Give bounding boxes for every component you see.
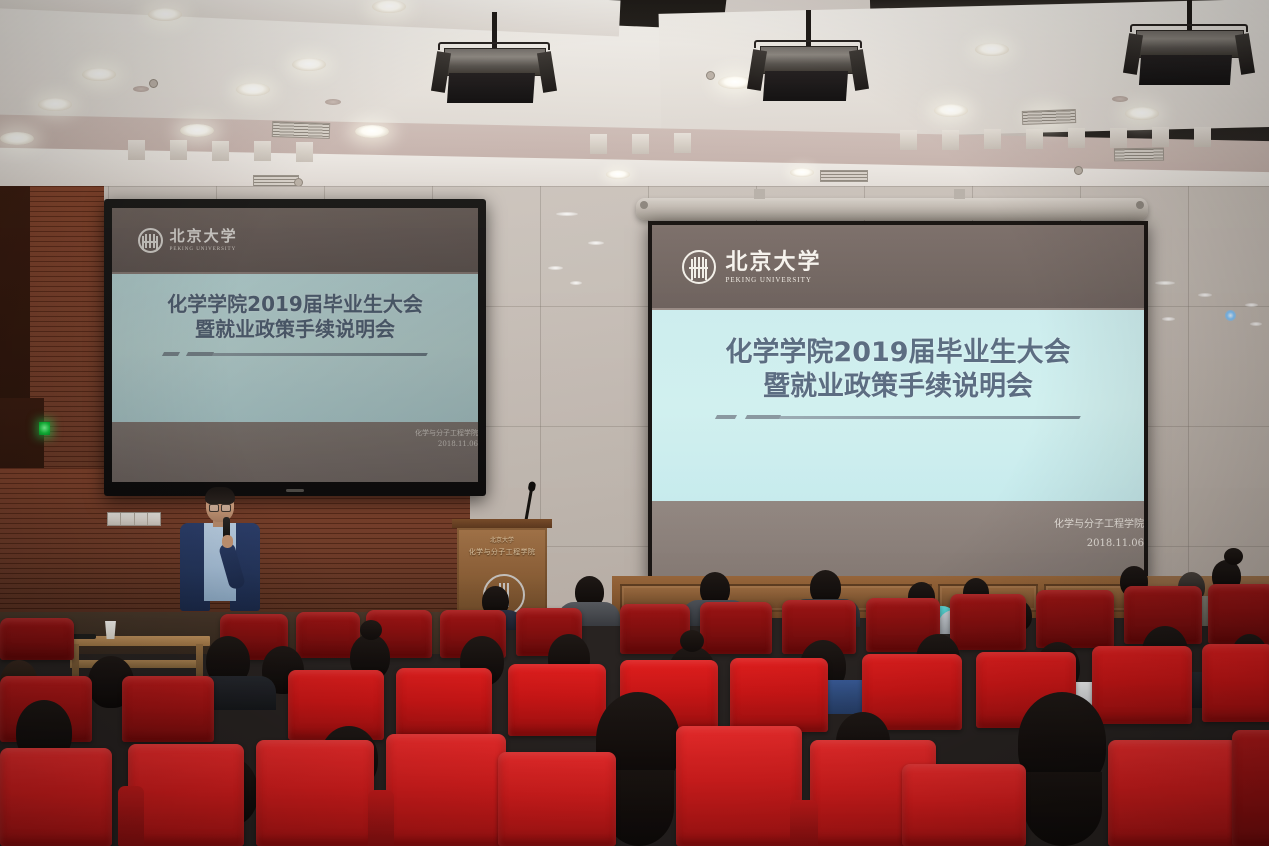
presenter-glasses [209, 502, 231, 511]
audience-hair [1024, 772, 1102, 846]
desk-object [72, 634, 96, 639]
presenter [180, 489, 260, 619]
auditorium-seat[interactable] [730, 658, 828, 732]
hvac-vent [1114, 148, 1164, 162]
side-table-leg [196, 644, 203, 678]
sprinkler-icon [1074, 166, 1083, 175]
auditorium-seat[interactable] [0, 618, 74, 660]
right-projection-screen[interactable]: 北京大学 PEKING UNIVERSITY 化学学院2019届毕业生大会 暨就… [648, 221, 1148, 583]
hvac-vent [1022, 109, 1076, 125]
slide-rule-decoration [716, 408, 1080, 424]
ceiling-downlight [934, 104, 968, 117]
left-slide-footer-date: 2018.11.06 [112, 439, 478, 450]
ceiling-downlight [355, 125, 389, 138]
pku-logo-chinese: 北京大学 [726, 251, 822, 273]
auditorium-seat[interactable] [1092, 646, 1192, 724]
ceiling-downlight [292, 58, 326, 71]
auditorium-seat[interactable] [902, 764, 1026, 846]
smoke-detector-icon [325, 99, 341, 105]
podium-text-college: 化学与分子工程学院 [457, 549, 547, 556]
right-slide: 北京大学 PEKING UNIVERSITY 化学学院2019届毕业生大会 暨就… [652, 225, 1144, 579]
stage-spotlight-right [1136, 24, 1242, 60]
pku-logo-english: PEKING UNIVERSITY [726, 277, 822, 284]
auditorium-seat[interactable] [676, 726, 802, 846]
auditorium-seat[interactable] [508, 664, 606, 736]
auditorium-seat[interactable] [122, 676, 214, 742]
projection-screen-roller-housing [636, 198, 1148, 220]
pku-logo-chinese: 北京大学 [170, 229, 238, 244]
ceiling-downlight [0, 132, 34, 145]
auditorium-seat[interactable] [386, 734, 506, 846]
seat-armrest [118, 786, 144, 846]
left-slide: 北京大学 PEKING UNIVERSITY 化学学院2019届毕业生大会 暨就… [112, 208, 478, 482]
ceiling-downlight [975, 43, 1009, 56]
auditorium-seat[interactable] [1232, 730, 1269, 846]
ceiling-downlight [38, 98, 72, 111]
stage-spotlight-left [444, 42, 544, 78]
left-slide-footer-org: 化学与分子工程学院 [112, 428, 478, 439]
ceiling-downlight [372, 0, 406, 13]
slide-rule-decoration [163, 345, 427, 359]
exit-sign-icon [39, 422, 50, 435]
auditorium-seat[interactable] [1202, 644, 1269, 722]
pku-seal-icon [682, 250, 716, 284]
smoke-detector-icon [133, 86, 149, 92]
display-power-led [286, 489, 304, 492]
ceiling [0, 0, 1269, 190]
right-slide-footer-date: 2018.11.06 [652, 534, 1144, 553]
right-slide-title: 化学学院2019届毕业生大会 暨就业政策手续说明会 [725, 336, 1070, 404]
auditorium-seat[interactable] [700, 602, 772, 654]
seat-armrest [790, 800, 818, 846]
ceiling-downlight [180, 124, 214, 137]
auditorium-seat[interactable] [1208, 584, 1269, 644]
podium-text-university: 北京大学 [457, 538, 547, 544]
ceiling-downlight [1125, 107, 1159, 120]
auditorium-seat[interactable] [620, 604, 690, 654]
hvac-vent [272, 121, 331, 139]
sprinkler-icon [149, 79, 158, 88]
auditorium-seat[interactable] [0, 748, 112, 846]
audience-hair-bun [680, 630, 704, 652]
auditorium-seat[interactable] [128, 744, 244, 846]
side-table-shelf [70, 660, 200, 668]
auditorium-seat[interactable] [498, 752, 616, 846]
pku-seal-icon [138, 228, 163, 253]
sprinkler-icon [706, 71, 715, 80]
smoke-detector-icon [1112, 96, 1128, 102]
auditorium-seat[interactable] [1036, 590, 1114, 648]
auditorium-seat[interactable] [1108, 740, 1238, 846]
auditorium-seat[interactable] [950, 594, 1026, 650]
pku-logo-english: PEKING UNIVERSITY [170, 247, 238, 252]
auditorium-seat[interactable] [396, 668, 492, 738]
light-switch-plate-front[interactable] [107, 512, 161, 526]
light-reflection [1225, 310, 1236, 321]
audience-hair-bun [1224, 548, 1243, 565]
audience-hair-bun [360, 620, 382, 640]
ceiling-downlight [236, 83, 270, 96]
ceiling-downlight [148, 8, 182, 21]
left-flat-panel-display[interactable]: 北京大学 PEKING UNIVERSITY 化学学院2019届毕业生大会 暨就… [104, 199, 486, 496]
auditorium-seat[interactable] [256, 740, 374, 846]
left-slide-title: 化学学院2019届毕业生大会 暨就业政策手续说明会 [167, 292, 423, 342]
auditorium-photo: 北京大学 PEKING UNIVERSITY 化学学院2019届毕业生大会 暨就… [0, 0, 1269, 846]
stage-spotlight-mid [760, 40, 856, 74]
ceiling-downlight [82, 68, 116, 81]
right-slide-footer-org: 化学与分子工程学院 [652, 515, 1144, 534]
hvac-vent [820, 170, 868, 182]
seat-armrest [368, 790, 394, 846]
